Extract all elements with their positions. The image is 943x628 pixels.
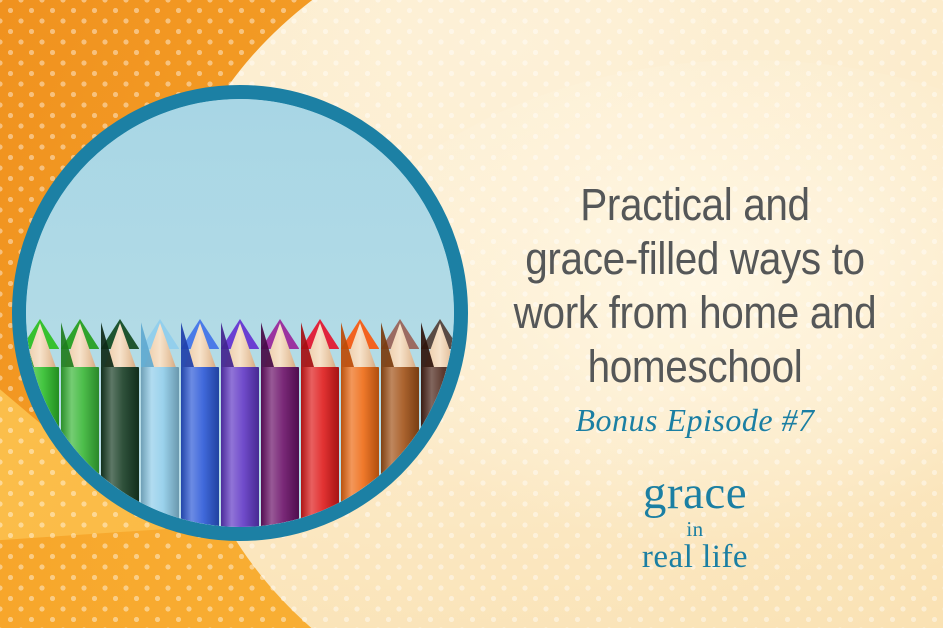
pencil-body: [181, 367, 220, 527]
pencil-body: [341, 367, 380, 527]
episode-subtitle: Bonus Episode #7: [470, 402, 920, 439]
pencil-red: [301, 315, 340, 527]
pencil-green: [61, 315, 100, 527]
photo-sky-background: [26, 99, 454, 527]
logo-line-real-life: real life: [470, 541, 920, 574]
pencil-purple: [261, 315, 300, 527]
pencil-body: [301, 367, 340, 527]
podcast-cover-card: Practical and grace-filled ways to work …: [0, 0, 943, 628]
pencil-orange: [341, 315, 380, 527]
brand-logo: grace in real life: [470, 470, 920, 574]
text-column: Practical and grace-filled ways to work …: [470, 0, 928, 628]
pencil-light-blue: [141, 315, 180, 527]
pencil-light-brown: [381, 315, 420, 527]
episode-title: Practical and grace-filled ways to work …: [493, 178, 898, 394]
pencil-body: [421, 367, 454, 527]
pencil-body: [221, 367, 260, 527]
colored-pencils-photo: [12, 85, 468, 541]
logo-line-grace: grace: [470, 470, 920, 517]
pencil-body: [141, 367, 180, 527]
pencil-body: [101, 367, 140, 527]
pencil-row: [26, 267, 454, 527]
pencil-dark-green: [101, 315, 140, 527]
pencil-blue: [181, 315, 220, 527]
pencil-bright-green: [26, 315, 59, 527]
pencil-body: [26, 367, 59, 527]
pencil-dark-brown: [421, 315, 454, 527]
pencil-body: [61, 367, 100, 527]
pencil-body: [381, 367, 420, 527]
pencil-violet-blue: [221, 315, 260, 527]
logo-line-in: in: [470, 519, 920, 540]
pencil-body: [261, 367, 300, 527]
